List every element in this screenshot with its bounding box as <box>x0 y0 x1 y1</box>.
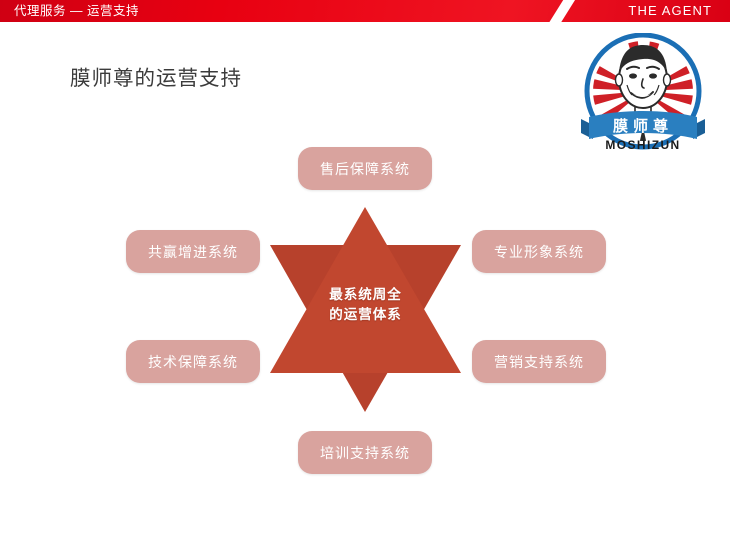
star-center-text: 最系统周全 的运营体系 <box>258 285 473 325</box>
pill-marketing-support[interactable]: 营销支持系统 <box>472 340 606 383</box>
pill-training-support[interactable]: 培训支持系统 <box>298 431 432 474</box>
slide-canvas: 代理服务 — 运营支持 THE AGENT 膜师尊的运营支持 <box>0 0 730 547</box>
pill-technical-support[interactable]: 技术保障系统 <box>126 340 260 383</box>
star-center-line-2: 的运营体系 <box>258 305 473 325</box>
svg-text:MOSHIZUN: MOSHIZUN <box>605 138 680 152</box>
star-center-line-1: 最系统周全 <box>258 285 473 305</box>
page-title: 膜师尊的运营支持 <box>70 61 242 91</box>
pill-label: 技术保障系统 <box>148 352 238 372</box>
pill-mutual-benefit[interactable]: 共赢增进系统 <box>126 230 260 273</box>
pill-label: 共赢增进系统 <box>148 242 238 262</box>
header-bar: 代理服务 — 运营支持 THE AGENT <box>0 0 730 22</box>
pill-after-sales-guarantee[interactable]: 售后保障系统 <box>298 147 432 190</box>
header-breadcrumb: 代理服务 — 运营支持 <box>14 2 139 20</box>
svg-text:膜师尊: 膜师尊 <box>613 117 673 135</box>
pill-label: 专业形象系统 <box>494 242 584 262</box>
moshizun-badge-logo: 膜师尊 MOSHIZUN <box>577 33 709 155</box>
pill-professional-image[interactable]: 专业形象系统 <box>472 230 606 273</box>
pill-label: 培训支持系统 <box>320 443 410 463</box>
header-brand-label: THE AGENT <box>628 2 712 20</box>
pill-label: 售后保障系统 <box>320 159 410 179</box>
pill-label: 营销支持系统 <box>494 352 584 372</box>
